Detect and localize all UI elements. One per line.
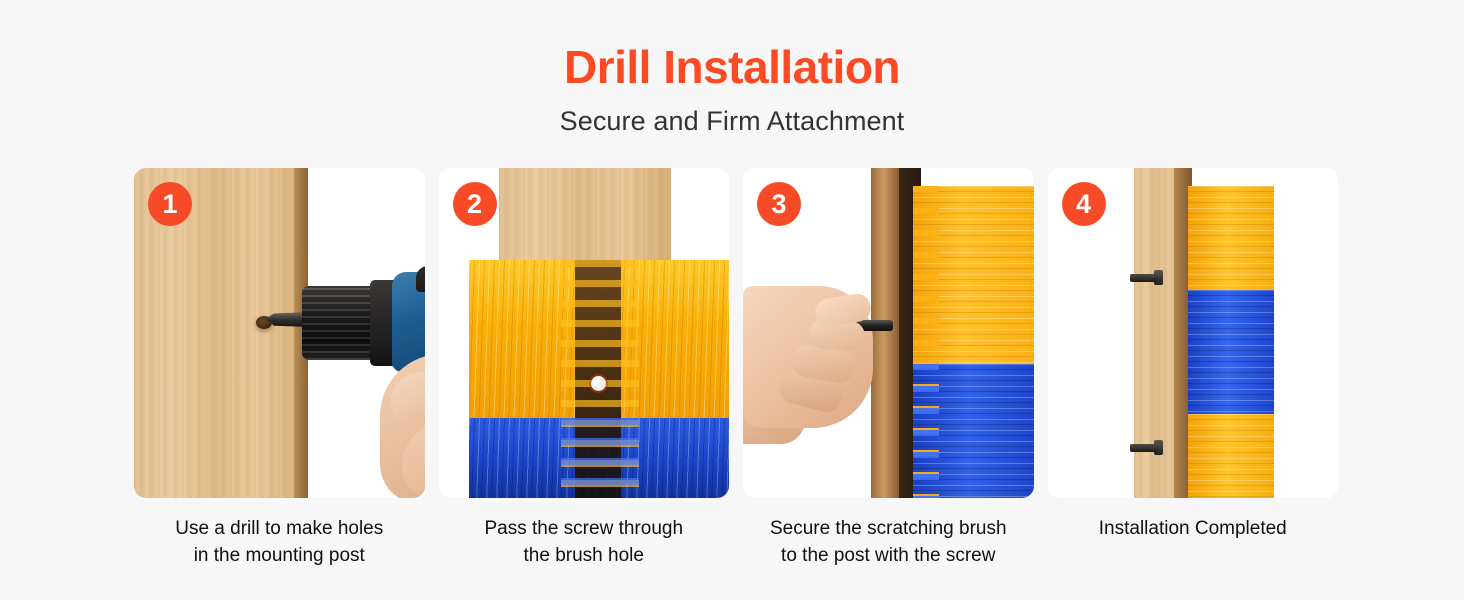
step-card-2: 2 Pass the screw through the brush hole bbox=[439, 168, 730, 569]
step-image-2: 2 bbox=[439, 168, 730, 498]
screw-bottom bbox=[1130, 444, 1158, 452]
caption-line-1: Pass the screw through bbox=[443, 515, 726, 542]
caption-line-1: Installation Completed bbox=[1052, 515, 1335, 542]
step-card-1: 1 Use a drill to make holes in the mount… bbox=[134, 168, 425, 569]
step-card-3: 3 Secure the scratching brush to the pos… bbox=[743, 168, 1034, 569]
wooden-post bbox=[499, 168, 671, 268]
page-subtitle: Secure and Firm Attachment bbox=[0, 104, 1464, 138]
scratching-brush bbox=[469, 260, 730, 498]
yellow-bristles-bottom bbox=[1188, 414, 1274, 498]
yellow-bristles-top bbox=[1188, 186, 1274, 290]
step-card-4: 4 Installation Completed bbox=[1048, 168, 1339, 569]
drill-top-cover bbox=[416, 266, 425, 292]
step-caption-2: Pass the screw through the brush hole bbox=[439, 515, 730, 569]
step-badge-1: 1 bbox=[148, 182, 192, 226]
step-caption-3: Secure the scratching brush to the post … bbox=[743, 515, 1034, 569]
scratching-brush bbox=[913, 186, 1034, 498]
step-image-1: 1 bbox=[134, 168, 425, 498]
step-image-3: 3 bbox=[743, 168, 1034, 498]
caption-line-1: Use a drill to make holes bbox=[138, 515, 421, 542]
bristle-tufts-blue bbox=[561, 418, 639, 498]
page-title: Drill Installation bbox=[0, 38, 1464, 96]
step-badge-2: 2 bbox=[453, 182, 497, 226]
screw-top bbox=[1130, 274, 1158, 282]
steps-row: 1 Use a drill to make holes in the mount… bbox=[134, 168, 1338, 569]
step-badge-3: 3 bbox=[757, 182, 801, 226]
caption-line-1: Secure the scratching brush bbox=[747, 515, 1030, 542]
scratching-brush bbox=[1188, 186, 1274, 498]
screw-hole bbox=[591, 376, 606, 391]
blue-bristles-middle bbox=[1188, 290, 1274, 414]
caption-line-2: in the mounting post bbox=[138, 542, 421, 569]
step-caption-4: Installation Completed bbox=[1048, 515, 1339, 542]
step-image-4: 4 bbox=[1048, 168, 1339, 498]
bristle-tufts-blue bbox=[913, 364, 939, 498]
drill-installation-infographic: Drill Installation Secure and Firm Attac… bbox=[0, 0, 1464, 600]
step-badge-4: 4 bbox=[1062, 182, 1106, 226]
caption-line-2: the brush hole bbox=[443, 542, 726, 569]
header: Drill Installation Secure and Firm Attac… bbox=[0, 0, 1464, 138]
step-caption-1: Use a drill to make holes in the mountin… bbox=[134, 515, 425, 569]
caption-line-2: to the post with the screw bbox=[747, 542, 1030, 569]
